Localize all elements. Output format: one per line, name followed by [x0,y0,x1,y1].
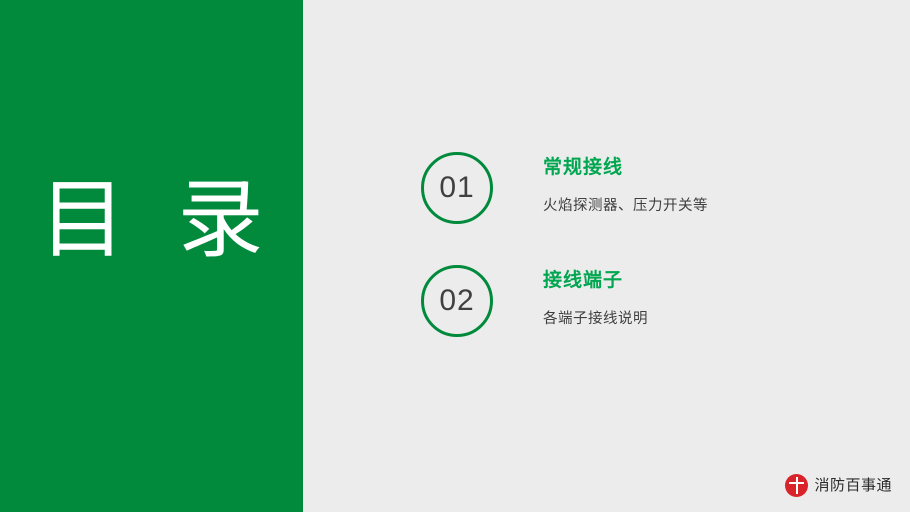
toc-number-badge: 02 [421,265,493,337]
toc-number-badge: 01 [421,152,493,224]
toc-subtitle: 火焰探测器、压力开关等 [543,195,891,217]
toc-heading: 接线端子 [543,268,891,294]
brand-watermark: 消防百事通 [785,473,892,497]
toc-number: 02 [424,268,490,334]
fire-cross-logo-icon [785,474,808,497]
left-color-panel: 目 录 [0,0,303,512]
toc-heading: 常规接线 [543,155,891,181]
toc-text-group: 接线端子 各端子接线说明 [543,268,891,330]
toc-text-group: 常规接线 火焰探测器、压力开关等 [543,155,891,217]
content-panel: 01 常规接线 火焰探测器、压力开关等 02 接线端子 各端子接线说明 消防百事 [303,0,910,512]
table-of-contents: 01 常规接线 火焰探测器、压力开关等 02 接线端子 各端子接线说明 [421,152,891,378]
brand-name: 消防百事通 [814,474,892,497]
list-item[interactable]: 01 常规接线 火焰探测器、压力开关等 [421,152,891,265]
presentation-slide: 目 录 01 常规接线 火焰探测器、压力开关等 02 接线端子 各端子接线说明 [0,0,910,512]
list-item[interactable]: 02 接线端子 各端子接线说明 [421,265,891,378]
page-title: 目 录 [0,172,303,268]
toc-subtitle: 各端子接线说明 [543,308,891,330]
toc-number: 01 [424,155,490,221]
